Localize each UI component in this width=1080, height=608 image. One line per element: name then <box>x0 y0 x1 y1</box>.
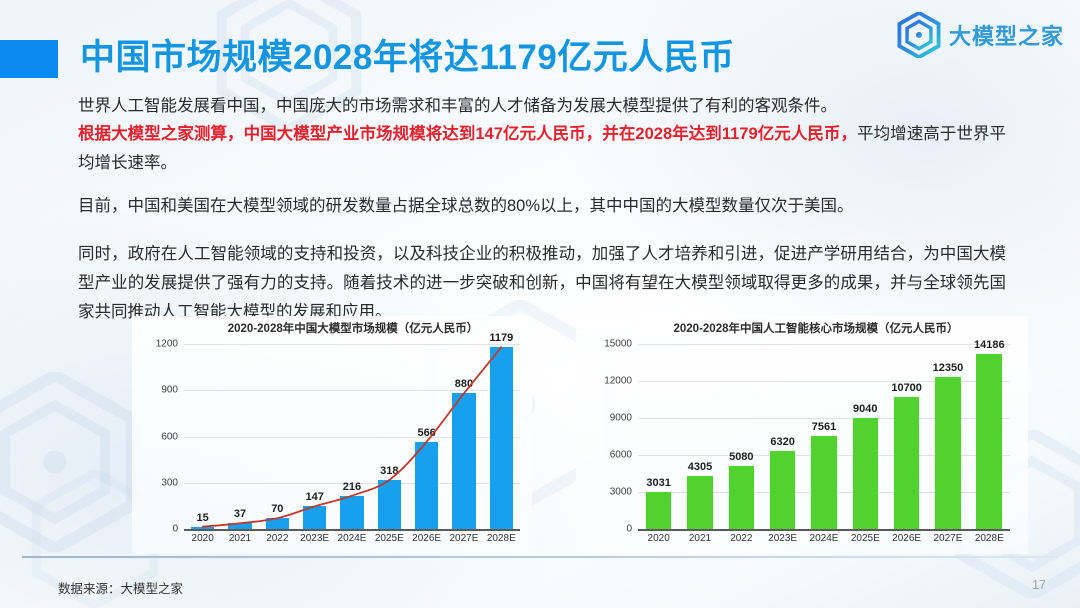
page-title: 中国市场规模2028年将达1179亿元人民币 <box>80 36 735 80</box>
footer-divider <box>22 556 1058 558</box>
bar-value-label: 70 <box>271 503 283 515</box>
y-axis-tick-label: 300 <box>136 477 178 488</box>
x-axis-tick-label: 2025E <box>375 533 404 544</box>
x-axis-tick-label: 2021 <box>689 533 711 544</box>
bar-value-label: 880 <box>455 378 473 390</box>
bar-value-label: 7561 <box>812 421 836 433</box>
bar[interactable] <box>378 480 401 529</box>
y-axis-tick-label: 900 <box>136 385 178 396</box>
bar-value-label: 37 <box>234 508 246 520</box>
bar[interactable] <box>894 397 920 529</box>
bar-value-label: 12350 <box>933 362 964 374</box>
x-axis-tick-label: 2027E <box>933 533 962 544</box>
bar-value-label: 318 <box>380 465 398 477</box>
y-axis-tick-label: 1200 <box>136 339 178 350</box>
bar-item[interactable]: 30312020 <box>638 344 679 529</box>
bar[interactable] <box>303 506 326 529</box>
bar-item[interactable]: 1472023E <box>296 344 333 529</box>
x-axis-tick-label: 2022 <box>266 533 288 544</box>
y-axis-tick-label: 3000 <box>590 487 632 498</box>
bar-item[interactable]: 11792028E <box>483 344 520 529</box>
bar-value-label: 1179 <box>489 332 513 344</box>
bar-value-label: 9040 <box>853 403 877 415</box>
y-axis-tick-label: 0 <box>590 524 632 535</box>
bar-value-label: 216 <box>343 481 361 493</box>
bar-group: 1520203720217020221472023E2162024E318202… <box>184 344 520 529</box>
brand-logo: 大模型之家 <box>897 12 1064 58</box>
bar[interactable] <box>770 451 796 529</box>
x-axis-tick-label: 2024E <box>810 533 839 544</box>
bar-value-label: 4305 <box>688 461 712 473</box>
chart-left-plot-area: 030060090012001520203720217020221472023E… <box>132 316 532 554</box>
bar-value-label: 15 <box>197 512 209 524</box>
bar[interactable] <box>415 442 438 529</box>
x-axis-tick-label: 2024E <box>338 533 367 544</box>
paragraph-forecast: 根据大模型之家测算，中国大模型产业市场规模将达到147亿元人民币，并在2028年… <box>78 120 1006 178</box>
y-axis-tick-label: 600 <box>136 431 178 442</box>
y-axis-tick-label: 15000 <box>590 339 632 350</box>
x-axis-line <box>184 529 520 531</box>
x-axis-tick-label: 2023E <box>768 533 797 544</box>
slide-canvas: 中国市场规模2028年将达1179亿元人民币 大模型之家 世界人工智能发展看中国… <box>0 0 1080 608</box>
x-axis-tick-label: 2025E <box>851 533 880 544</box>
bar[interactable] <box>811 436 837 529</box>
brand-logo-text: 大模型之家 <box>949 19 1064 51</box>
y-axis-tick-label: 9000 <box>590 413 632 424</box>
bar-item[interactable]: 5662026E <box>408 344 445 529</box>
bar-item[interactable]: 107002026E <box>886 344 927 529</box>
y-axis-tick-label: 6000 <box>590 450 632 461</box>
bar[interactable] <box>228 523 251 529</box>
bar-value-label: 14186 <box>974 339 1005 351</box>
paragraph-intro: 世界人工智能发展看中国，中国庞大的市场需求和丰富的人才储备为发展大模型提供了有利… <box>78 92 1006 121</box>
hexagon-logo-icon <box>897 12 941 58</box>
bar-value-label: 5080 <box>729 451 753 463</box>
bar-value-label: 566 <box>417 427 435 439</box>
bar-group: 30312020430520215080202263202023E7561202… <box>638 344 1010 529</box>
x-axis-tick-label: 2026E <box>412 533 441 544</box>
bar[interactable] <box>976 354 1002 529</box>
data-source-label: 数据来源：大模型之家 <box>58 578 183 597</box>
bar[interactable] <box>935 377 961 529</box>
bar-item[interactable]: 8802027E <box>445 344 482 529</box>
bar[interactable] <box>191 527 214 529</box>
x-axis-tick-label: 2020 <box>648 533 670 544</box>
bar-item[interactable]: 43052021 <box>679 344 720 529</box>
bar[interactable] <box>452 393 475 529</box>
bar-item[interactable]: 141862028E <box>969 344 1010 529</box>
bar-item[interactable]: 2162024E <box>333 344 370 529</box>
bar-value-label: 147 <box>305 491 323 503</box>
x-axis-tick-label: 2020 <box>192 533 214 544</box>
watermark-hex-left <box>0 372 140 552</box>
chart-right-plot-area: 0300060009000120001500030312020430520215… <box>576 316 1028 554</box>
chart-china-llm-market-size: 2020-2028年中国大模型市场规模（亿元人民币） 0300600900120… <box>132 316 532 554</box>
bar[interactable] <box>729 466 755 529</box>
bar[interactable] <box>853 418 879 529</box>
bar-item[interactable]: 702022 <box>259 344 296 529</box>
y-axis-tick-label: 0 <box>136 524 178 535</box>
bar-item[interactable]: 75612024E <box>803 344 844 529</box>
bar[interactable] <box>266 518 289 529</box>
bar-item[interactable]: 372021 <box>221 344 258 529</box>
bar-value-label: 3031 <box>646 477 670 489</box>
bar-item[interactable]: 63202023E <box>762 344 803 529</box>
x-axis-tick-label: 2028E <box>975 533 1004 544</box>
x-axis-tick-label: 2026E <box>892 533 921 544</box>
x-axis-tick-label: 2028E <box>487 533 516 544</box>
page-number: 17 <box>1032 578 1046 592</box>
bar[interactable] <box>687 476 713 529</box>
paragraph-forecast-highlight: 根据大模型之家测算，中国大模型产业市场规模将达到147亿元人民币，并在2028年… <box>78 125 857 143</box>
paragraph-policy: 同时，政府在人工智能领域的支持和投资，以及科技企业的积极推动，加强了人才培养和引… <box>78 240 1006 327</box>
x-axis-tick-label: 2022 <box>730 533 752 544</box>
bar[interactable] <box>490 347 513 529</box>
bar-item[interactable]: 152020 <box>184 344 221 529</box>
title-accent-bar <box>0 40 58 78</box>
x-axis-tick-label: 2021 <box>229 533 251 544</box>
bar-value-label: 6320 <box>770 436 794 448</box>
y-axis-tick-label: 12000 <box>590 376 632 387</box>
bar[interactable] <box>340 496 363 529</box>
bar-item[interactable]: 123502027E <box>927 344 968 529</box>
bar[interactable] <box>646 492 672 529</box>
bar-value-label: 10700 <box>891 382 922 394</box>
chart-china-ai-core-market-size: 2020-2028年中国人工智能核心市场规模（亿元人民币） 0300060009… <box>576 316 1028 554</box>
bar-item[interactable]: 90402025E <box>845 344 886 529</box>
bar-item[interactable]: 50802022 <box>721 344 762 529</box>
x-axis-tick-label: 2023E <box>300 533 329 544</box>
x-axis-tick-label: 2027E <box>449 533 478 544</box>
x-axis-line <box>638 529 1010 531</box>
paragraph-rd-share: 目前，中国和美国在大模型领域的研发数量占据全球总数的80%以上，其中中国的大模型… <box>78 192 1006 221</box>
bar-item[interactable]: 3182025E <box>371 344 408 529</box>
